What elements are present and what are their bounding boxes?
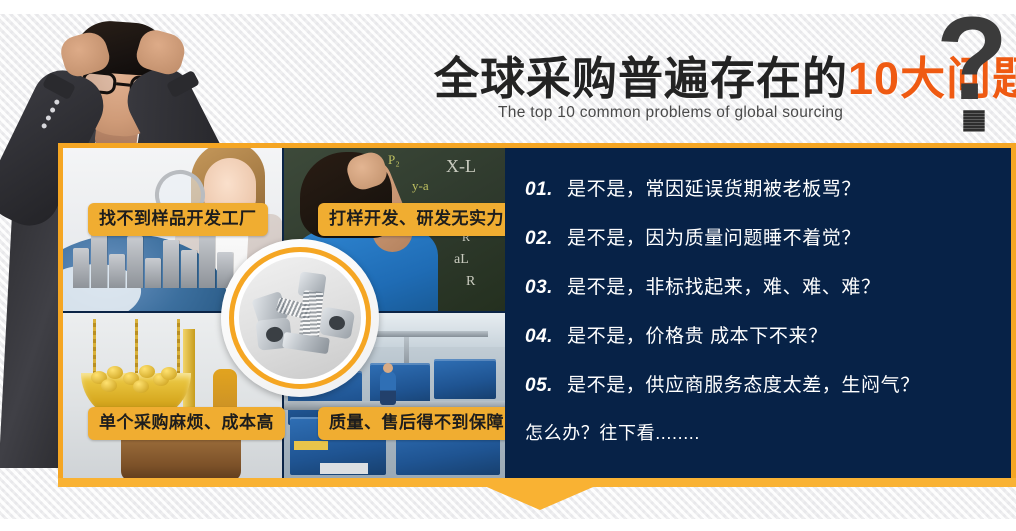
bolt-body-1 [282, 332, 330, 354]
item-text: 是不是，因为质量问题睡不着觉？ [567, 223, 861, 250]
question-mark-icon: ? ? [936, 16, 1010, 134]
item-number: 03. [525, 277, 557, 299]
list-item: 02. 是不是，因为质量问题睡不着觉？ [525, 223, 995, 250]
item-number: 01. [525, 179, 557, 201]
list-item: 01. 是不是，常因延误货期被老板骂？ [525, 174, 995, 201]
problem-list: 01. 是不是，常因延误货期被老板骂？ 02. 是不是，因为质量问题睡不着觉？ … [525, 174, 995, 445]
gold-nuggets [89, 363, 181, 393]
page-subtitle: The top 10 common problems of global sou… [498, 104, 843, 122]
question-mark-dot [963, 110, 985, 132]
list-item: 05. 是不是，供应商服务态度太差，生闷气？ [525, 370, 995, 397]
item-text: 是不是，非标找起来，难、难、难？ [567, 272, 881, 299]
badge-orange-ring [229, 247, 371, 389]
item-number: 05. [525, 375, 557, 397]
item-number: 04. [525, 326, 557, 348]
item-text: 是不是，供应商服务态度太差，生闷气？ [567, 370, 920, 397]
scroll-down-arrow-icon [466, 478, 614, 510]
background-bottom-band [0, 519, 1016, 531]
tag-no-rnd-strength: 打样开发、研发无实力 [318, 203, 515, 236]
item-text: 是不是，价格贵 成本下不来？ [567, 321, 828, 348]
badge-bolts [221, 239, 379, 397]
item-number: 02. [525, 228, 557, 250]
problem-list-panel: 01. 是不是，常因延误货期被老板骂？ 02. 是不是，因为质量问题睡不着觉？ … [505, 148, 1011, 478]
item-text: 是不是，常因延误货期被老板骂？ [567, 174, 861, 201]
panel-footer-text: 怎么办？往下看........ [525, 419, 995, 445]
list-item: 03. 是不是，非标找起来，难、难、难？ [525, 272, 995, 299]
factory-worker [380, 371, 396, 405]
question-mark-glyph: ? [936, 0, 1008, 118]
tag-single-purchase-cost: 单个采购麻烦、成本高 [88, 407, 285, 440]
list-item: 04. 是不是，价格贵 成本下不来？ [525, 321, 995, 348]
banner-stage: 全球采购普遍存在的10大问题 The top 10 common problem… [0, 0, 1016, 531]
tag-no-quality-warranty: 质量、售后得不到保障 [318, 407, 515, 440]
tag-no-sample-factory: 找不到样品开发工厂 [88, 203, 268, 236]
nut-2 [319, 306, 355, 339]
wooden-base-shape [121, 435, 241, 478]
title-main-text: 全球采购普遍存在的 [434, 53, 848, 104]
badge-photo-bolts [239, 257, 361, 379]
